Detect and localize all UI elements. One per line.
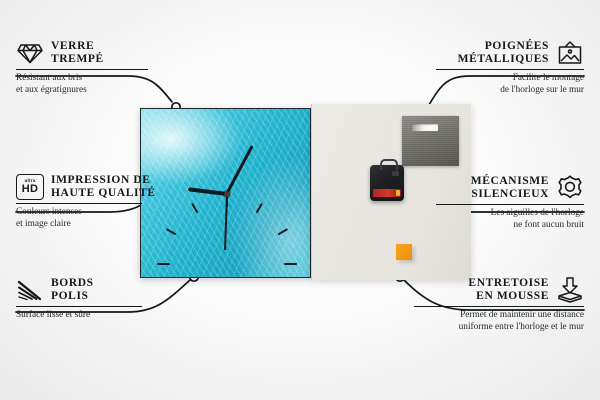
feature-title-line1: MÉCANISME	[471, 175, 549, 188]
clock-dial	[141, 109, 311, 278]
feature-rule	[16, 203, 142, 204]
gear-icon	[556, 174, 584, 201]
mechanism-hanging-loop	[380, 159, 398, 170]
metal-hanger-plate	[402, 116, 459, 166]
hanger-slot	[412, 124, 438, 131]
feature-title-line2: TREMPÉ	[51, 53, 104, 66]
battery	[373, 189, 401, 197]
foam-spacer-square	[396, 244, 412, 260]
dial-mark	[191, 203, 198, 214]
hd-badge-main-text: HD	[22, 184, 39, 195]
feature-title-line1: POIGNÉES	[458, 40, 549, 53]
feature-desc-line2: de l'horloge sur le mur	[424, 85, 584, 96]
dial-mark	[255, 203, 262, 214]
feature-desc-line2: et image claire	[16, 219, 158, 230]
dial-mark	[284, 263, 297, 265]
feature-verre-trempe: VERRE TREMPÉ Résistant aux bris et aux é…	[16, 40, 164, 96]
feature-title-line1: BORDS	[51, 277, 94, 290]
feature-rule	[414, 306, 584, 307]
feature-desc-line1: Permet de maintenir une distance	[402, 310, 584, 321]
feature-rule	[436, 204, 584, 205]
clock-hour-hand	[188, 187, 227, 196]
feature-desc-line1: Les aiguilles de l'horloge	[424, 208, 584, 219]
ultra-hd-badge-icon: ultra HD	[16, 174, 44, 200]
feature-impression-haute-qualite: ultra HD IMPRESSION DE HAUTE QUALITÉ Cou…	[16, 174, 158, 230]
feature-title-line2: POLIS	[51, 290, 94, 303]
clock-minute-hand	[225, 146, 253, 195]
feature-title-line2: MÉTALLIQUES	[458, 53, 549, 66]
feature-desc-line1: Facilite le montage	[424, 73, 584, 84]
feature-rule	[16, 69, 148, 70]
diamond-icon	[16, 41, 44, 65]
feature-rule	[16, 306, 142, 307]
picture-hanger-icon	[556, 40, 584, 66]
feature-rule	[436, 69, 584, 70]
feature-title-line2: HAUTE QUALITÉ	[51, 187, 156, 200]
dial-mark	[157, 263, 170, 265]
feature-poignees-metalliques: POIGNÉES MÉTALLIQUES Facilite le montage…	[424, 40, 584, 96]
feature-desc-line1: Surface lisse et sûre	[16, 310, 158, 321]
quartz-mechanism	[370, 165, 404, 201]
dial-mark	[165, 228, 176, 235]
feature-mecanisme-silencieux: MÉCANISME SILENCIEUX Les aiguilles de l'…	[424, 174, 584, 231]
mechanism-detail	[392, 171, 399, 176]
feature-desc-line1: Résistant aux bris	[16, 73, 164, 84]
feature-desc-line1: Couleurs intenses	[16, 207, 158, 218]
feature-title-line1: IMPRESSION DE	[51, 174, 156, 187]
feature-title-line2: SILENCIEUX	[471, 188, 549, 201]
feature-entretoise-en-mousse: ENTRETOISE EN MOUSSE Permet de maintenir…	[402, 276, 584, 333]
feature-bords-polis: BORDS POLIS Surface lisse et sûre	[16, 277, 158, 322]
clock-center-pivot	[224, 191, 230, 197]
feature-desc-line2: ne font aucun bruit	[424, 220, 584, 231]
dial-mark	[277, 228, 288, 235]
polished-edges-icon	[16, 279, 44, 302]
battery-terminal	[396, 190, 400, 196]
feature-desc-line2: et aux égratignures	[16, 85, 164, 96]
feature-title-line2: EN MOUSSE	[468, 290, 549, 303]
wall-clock-front-photo	[140, 108, 311, 278]
feature-desc-line2: uniforme entre l'horloge et le mur	[402, 322, 584, 333]
clock-second-hand	[224, 194, 228, 250]
foam-spacer-arrow-icon	[556, 276, 584, 303]
feature-title-line1: VERRE	[51, 40, 104, 53]
infographic-canvas: VERRE TREMPÉ Résistant aux bris et aux é…	[0, 0, 600, 400]
feature-title-line1: ENTRETOISE	[468, 277, 549, 290]
